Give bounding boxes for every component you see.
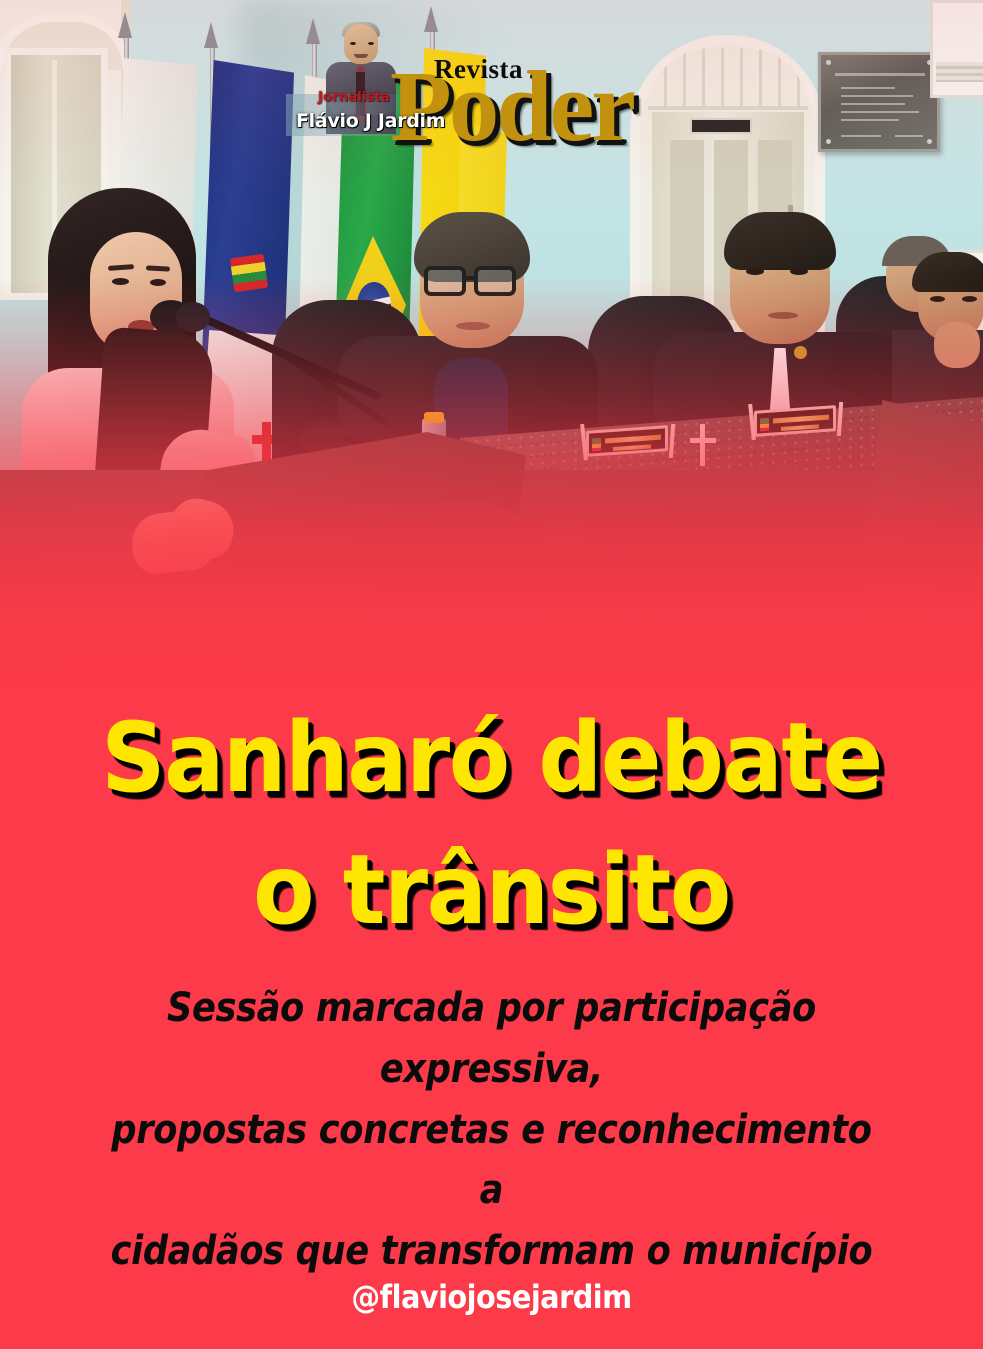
subtitle-line-3: cidadãos que transformam o município [94,1221,889,1282]
headline-line-1: Sanharó debate [101,702,882,814]
headline-line-2: o trânsito [34,824,948,956]
headline: Sanharó debate o trânsito [34,692,948,957]
eye [368,42,374,45]
subtitle-line-1: Sessão marcada por participação expressi… [94,978,889,1100]
journalist-name: Flávio J Jardim [296,110,445,132]
mouth [354,54,368,58]
subtitle: Sessão marcada por participação expressi… [94,978,889,1282]
subtitle-line-2: propostas concretas e reconhecimento a [94,1100,889,1222]
poster-canvas: Poder Revista Jornalista Flávio J Jardim… [0,0,983,1349]
magazine-kicker: Revista [434,54,523,85]
journalist-role-label: Jornalista [318,90,390,105]
eye [350,42,356,45]
magazine-logo[interactable]: Poder Revista Jornalista Flávio J Jardim [286,8,676,158]
social-handle[interactable]: @flaviojosejardim [49,1278,934,1316]
